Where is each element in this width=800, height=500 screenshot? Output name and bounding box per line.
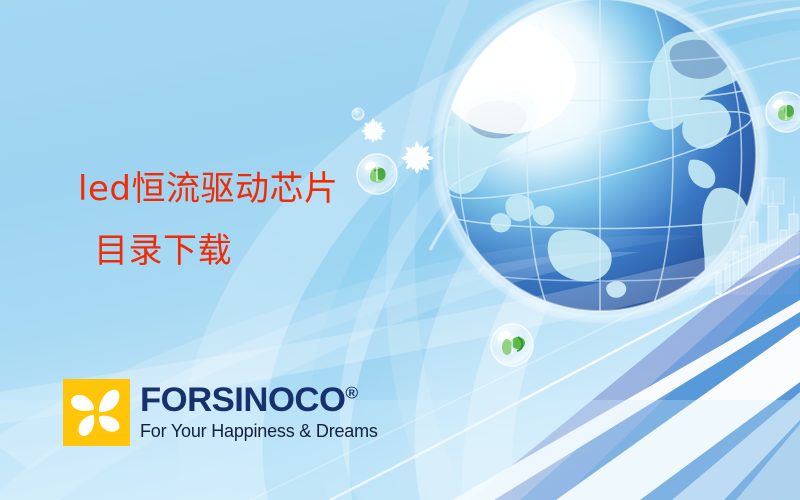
title-line-2: 目录下载 — [78, 220, 408, 282]
brand-name: FORSINOCO® — [140, 383, 382, 417]
logo-wordmark: FORSINOCO® For Your Happiness & Dreams — [140, 379, 378, 442]
registered-trademark-icon: ® — [345, 384, 357, 403]
brand-tagline: For Your Happiness & Dreams — [140, 420, 378, 442]
title-line-1: led恒流驱动芯片 — [78, 158, 408, 220]
product-banner: led恒流驱动芯片 目录下载 FORSINOCO® — [0, 0, 800, 500]
four-petal-flower-icon — [63, 379, 130, 446]
banner-title: led恒流驱动芯片 目录下载 — [78, 158, 408, 282]
brand-name-text: FORSINOCO — [140, 381, 345, 419]
company-logo[interactable]: FORSINOCO® For Your Happiness & Dreams — [63, 379, 378, 446]
